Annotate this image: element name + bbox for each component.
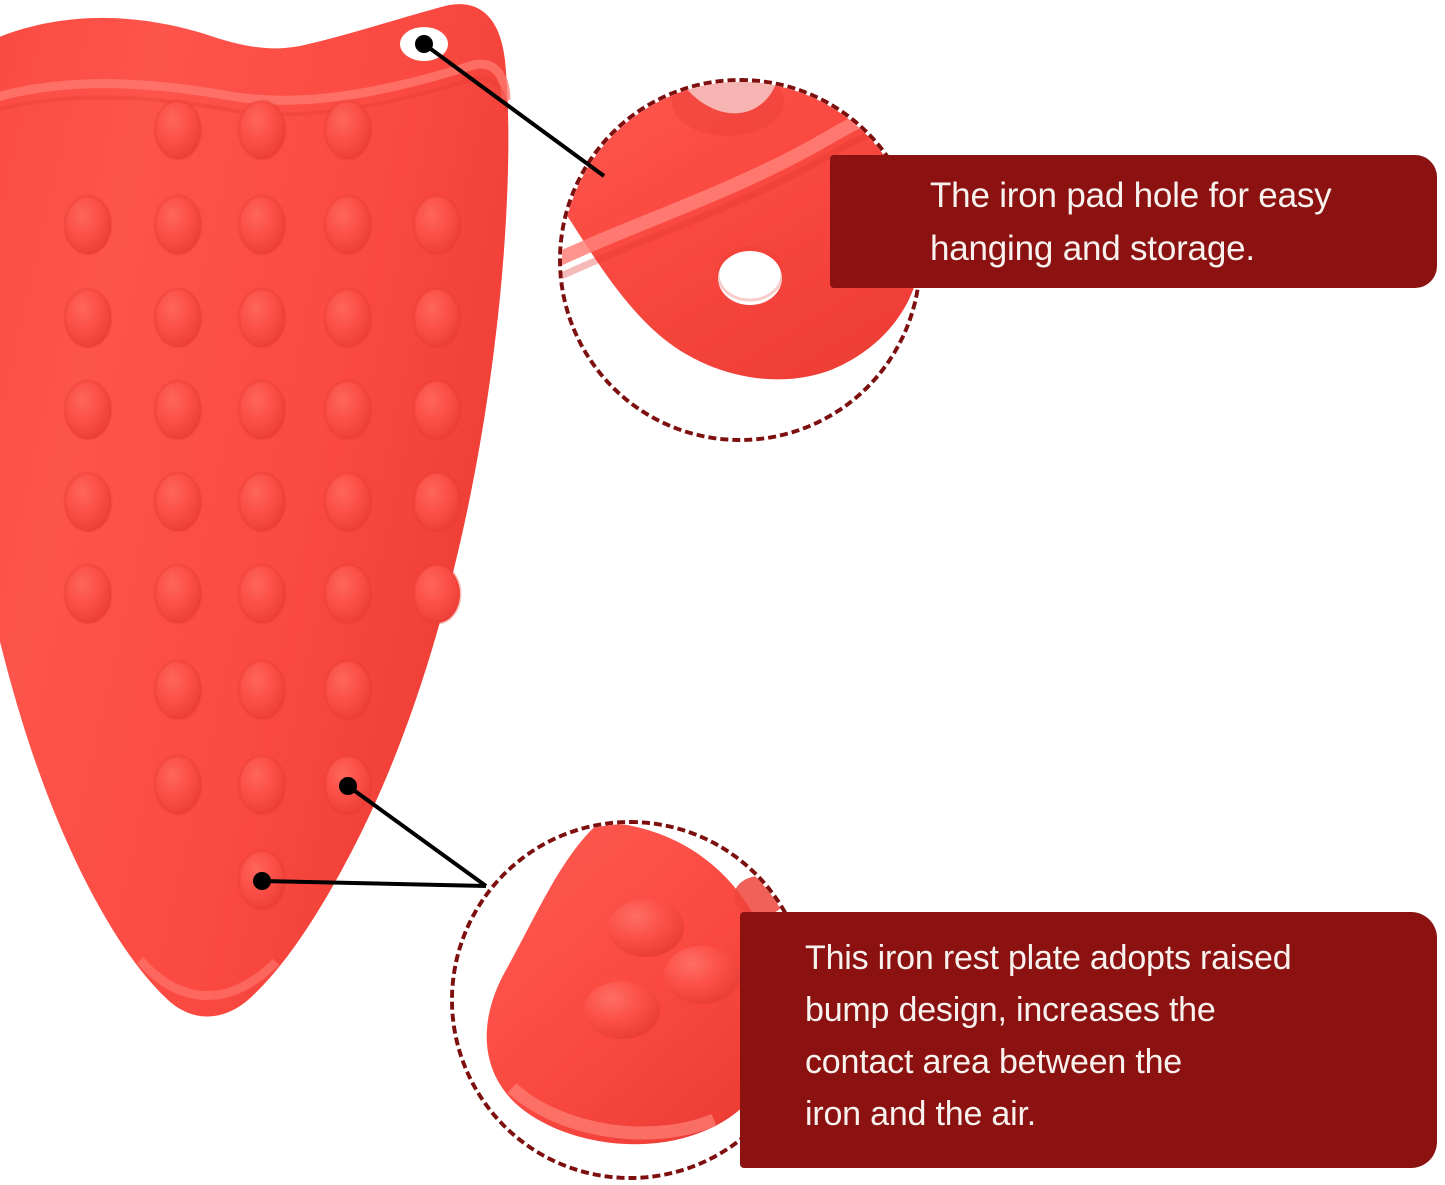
banner-bottom-line-1: This iron rest plate adopts raised [805, 932, 1437, 984]
pad-svg [0, 0, 530, 1065]
closeup-hanging-hole [718, 251, 782, 305]
banner-bottom-line-3: contact area between the [805, 1036, 1437, 1088]
banner-top-line-2: hanging and storage. [930, 222, 1437, 275]
hanging-hole-marker-dot [415, 35, 433, 53]
hole-feature-banner: The iron pad hole for easy hanging and s… [830, 155, 1437, 288]
banner-bottom-line-4: iron and the air. [805, 1088, 1437, 1140]
closeup-bump-3 [584, 981, 660, 1039]
iron-rest-pad-illustration [0, 0, 530, 1060]
closeup-bump-1 [608, 899, 684, 957]
banner-bottom-line-2: bump design, increases the [805, 984, 1437, 1036]
banner-top-line-1: The iron pad hole for easy [930, 169, 1437, 222]
closeup-bump-edge-1 [734, 876, 786, 916]
bump-feature-banner: This iron rest plate adopts raised bump … [740, 912, 1437, 1168]
infographic-canvas: The iron pad hole for easy hanging and s… [0, 0, 1445, 1185]
closeup-bump-2 [664, 946, 740, 1004]
